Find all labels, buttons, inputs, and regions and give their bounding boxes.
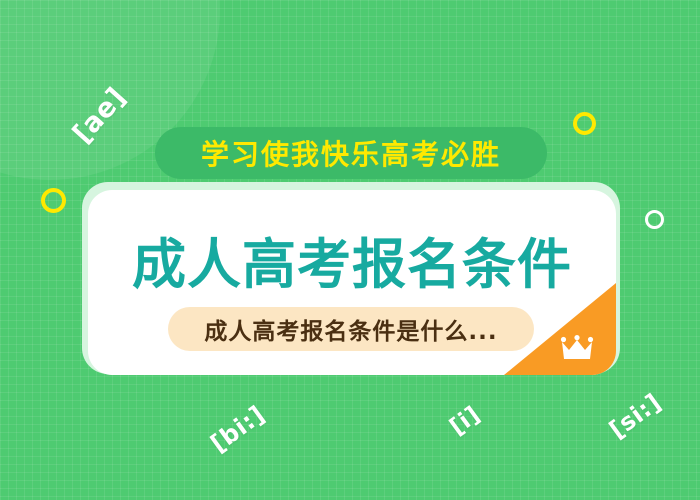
phonetic-i: [i] <box>445 402 485 441</box>
ring-yellow-top <box>573 112 596 135</box>
page-title: 成人高考报名条件 <box>88 220 616 299</box>
phonetic-si: [si:] <box>604 388 666 444</box>
slogan-pill: 学习使我快乐高考必胜 <box>155 127 547 179</box>
ring-white-right <box>645 210 664 229</box>
phonetic-ae: [ae] <box>67 82 132 150</box>
phonetic-bi: [bi:] <box>205 400 270 458</box>
crown-icon <box>560 335 594 361</box>
banner-root: [ae] [bi:] [i] [si:] 学习使我快乐高考必胜 成人高考报名条件… <box>0 0 700 500</box>
subtitle-text: 成人高考报名条件是什么... <box>204 312 497 346</box>
slogan-text: 学习使我快乐高考必胜 <box>201 133 501 173</box>
ring-yellow-left <box>41 188 66 213</box>
subtitle-pill: 成人高考报名条件是什么... <box>168 307 534 351</box>
